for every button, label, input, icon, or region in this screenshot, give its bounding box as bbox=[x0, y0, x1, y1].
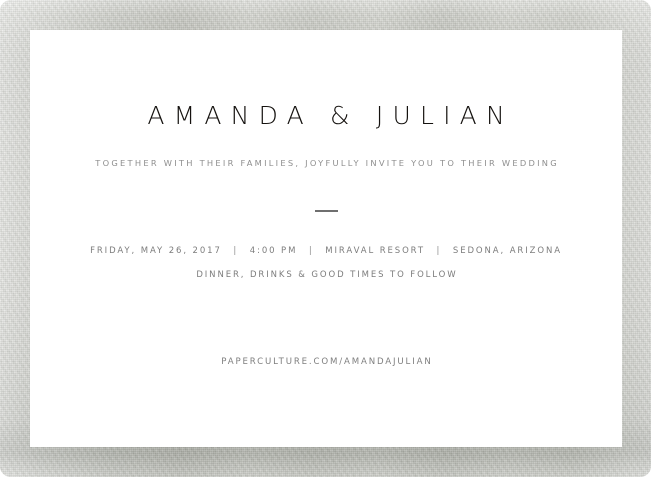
wedding-website-url: PAPERCULTURE.COM/AMANDAJULIAN bbox=[30, 358, 622, 367]
event-date: FRIDAY, MAY 26, 2017 bbox=[90, 246, 222, 256]
event-location: SEDONA, ARIZONA bbox=[453, 246, 562, 256]
detail-separator-1: | bbox=[226, 247, 245, 256]
event-venue: MIRAVAL RESORT bbox=[325, 246, 425, 256]
divider-rule bbox=[315, 210, 338, 212]
invitation-intro-line: TOGETHER WITH THEIR FAMILIES, JOYFULLY I… bbox=[30, 159, 622, 167]
reception-follow-line: DINNER, DRINKS & GOOD TIMES TO FOLLOW bbox=[30, 271, 622, 280]
detail-separator-2: | bbox=[302, 247, 321, 256]
event-time: 4:00 PM bbox=[250, 246, 298, 256]
invitation-white-panel: AMANDA & JULIAN TOGETHER WITH THEIR FAMI… bbox=[30, 30, 622, 447]
event-details-line: FRIDAY, MAY 26, 2017 | 4:00 PM | MIRAVAL… bbox=[30, 247, 622, 256]
detail-separator-3: | bbox=[430, 247, 449, 256]
couple-names-heading: AMANDA & JULIAN bbox=[30, 103, 622, 128]
wedding-invitation-card: AMANDA & JULIAN TOGETHER WITH THEIR FAMI… bbox=[0, 0, 651, 477]
